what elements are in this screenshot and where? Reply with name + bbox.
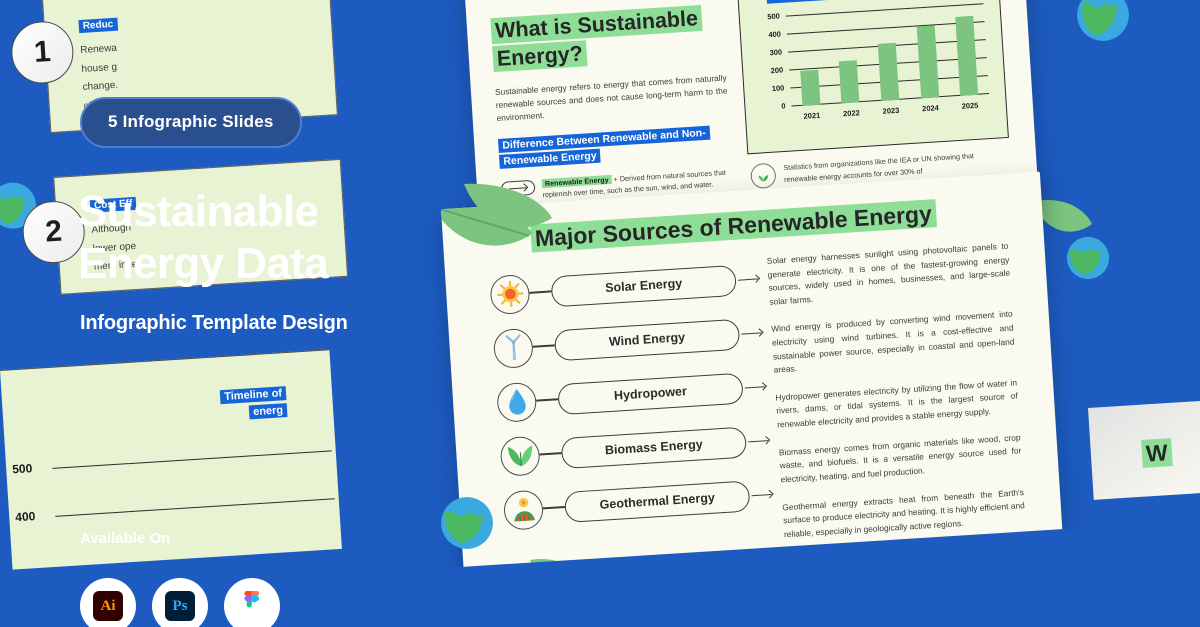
major-sources-heading-text: Major Sources of Renewable Energy xyxy=(530,199,936,252)
geothermal-icon xyxy=(503,489,544,530)
source-label[interactable]: Solar Energy xyxy=(550,264,737,307)
page-title-line2: Energy Data xyxy=(78,239,328,288)
chart-ytick-label: 400 xyxy=(768,29,781,39)
promo-panel: 5 Infographic Slides Sustainable Energy … xyxy=(0,0,470,627)
water-drop-icon xyxy=(496,381,537,422)
leaf-icon xyxy=(750,163,777,190)
available-on-label: Available On xyxy=(80,530,170,547)
photoshop-abbr: Ps xyxy=(165,591,195,621)
arrow-pill-icon xyxy=(501,180,536,197)
chart-bar xyxy=(955,16,978,96)
adobe-photoshop-icon[interactable]: Ps xyxy=(152,578,208,627)
what-is-subheading: Difference Between Renewable and Non-Ren… xyxy=(498,125,731,170)
what-is-subheading-text: Difference Between Renewable and Non-Ren… xyxy=(498,126,710,168)
green-energy-bar-chart: − × Global Growth of Green Energy 010020… xyxy=(736,0,1009,154)
connector-line xyxy=(533,345,555,348)
page-title-line1: Sustainable xyxy=(78,187,318,236)
arrow-right-icon xyxy=(748,434,771,447)
connector-line xyxy=(536,399,558,402)
source-description: Biomass energy comes from organic materi… xyxy=(779,431,1023,487)
sun-icon xyxy=(489,273,530,314)
chart-gridline: 500 xyxy=(786,3,984,16)
timeline-heading: W xyxy=(1141,439,1172,468)
chart-xtick-label: 2021 xyxy=(803,111,820,121)
source-label[interactable]: Geothermal Energy xyxy=(564,480,751,523)
page-subtitle: Infographic Template Design xyxy=(80,312,348,335)
chart-title: Global Growth of Green Energy xyxy=(766,0,931,3)
source-description: Wind energy is produced by converting wi… xyxy=(771,308,1016,378)
source-description: Solar energy harnesses sunlight using ph… xyxy=(766,240,1011,310)
figma-glyph xyxy=(239,591,265,621)
connector-line xyxy=(543,506,565,509)
arrow-right-icon xyxy=(738,272,761,285)
connector-line xyxy=(529,291,551,294)
timeline-heading-text: W xyxy=(1141,438,1172,468)
chart-bar xyxy=(800,70,820,106)
what-is-heading-text: What is Sustainable Energy? xyxy=(490,5,702,72)
chart-xtick-label: 2024 xyxy=(922,103,939,113)
renewable-source-list: Solar EnergyWind EnergyHydropowerBiomass… xyxy=(489,251,775,537)
page-title: Sustainable Energy Data xyxy=(78,186,438,290)
chart-xtick-label: 2025 xyxy=(961,101,978,111)
what-is-paragraph: Sustainable energy refers to energy that… xyxy=(495,71,729,124)
chart-bar xyxy=(916,25,938,98)
globe-icon xyxy=(1076,0,1130,42)
source-label[interactable]: Hydropower xyxy=(557,372,744,415)
arrow-right-icon xyxy=(744,380,767,393)
connector-line xyxy=(540,452,562,455)
leaf-icon xyxy=(499,435,540,476)
chart-ytick-label: 0 xyxy=(781,101,786,110)
chart-bar xyxy=(878,43,899,101)
illustrator-abbr: Ai xyxy=(93,591,123,621)
slide-card-major-sources: Major Sources of Renewable Energy Solar … xyxy=(441,172,1063,579)
chart-xtick-label: 2022 xyxy=(843,108,860,118)
app-icon-row: Ai Ps xyxy=(80,578,280,627)
chart-bar xyxy=(839,60,859,103)
right-blue-band xyxy=(1130,0,1200,627)
chart-ytick-label: 500 xyxy=(767,12,780,22)
poster-stage: What is Sustainable Energy? Sustainable … xyxy=(0,0,1200,627)
adobe-illustrator-icon[interactable]: Ai xyxy=(80,578,136,627)
chart-ytick-label: 300 xyxy=(769,47,782,57)
chart-ytick-label: 200 xyxy=(770,65,783,75)
chart-plot-area: 010020030040050020212022202320242025 xyxy=(786,4,989,106)
chart-ytick-label: 100 xyxy=(772,83,785,93)
globe-icon xyxy=(1066,236,1110,280)
major-sources-heading: Major Sources of Renewable Energy xyxy=(530,200,936,252)
source-label[interactable]: Biomass Energy xyxy=(561,426,748,469)
slides-count-badge[interactable]: 5 Infographic Slides xyxy=(80,97,302,148)
wind-turbine-icon xyxy=(493,327,534,368)
what-is-heading: What is Sustainable Energy? xyxy=(490,4,725,74)
chart-xtick-label: 2023 xyxy=(882,106,899,116)
source-label[interactable]: Wind Energy xyxy=(554,318,741,361)
arrow-right-icon xyxy=(751,488,774,501)
arrow-right-icon xyxy=(741,326,764,339)
source-description: Hydropower generates electricity by util… xyxy=(775,376,1019,432)
renewable-source-descriptions: Solar energy harnesses sunlight using ph… xyxy=(766,240,1026,556)
figma-icon[interactable] xyxy=(224,578,280,627)
